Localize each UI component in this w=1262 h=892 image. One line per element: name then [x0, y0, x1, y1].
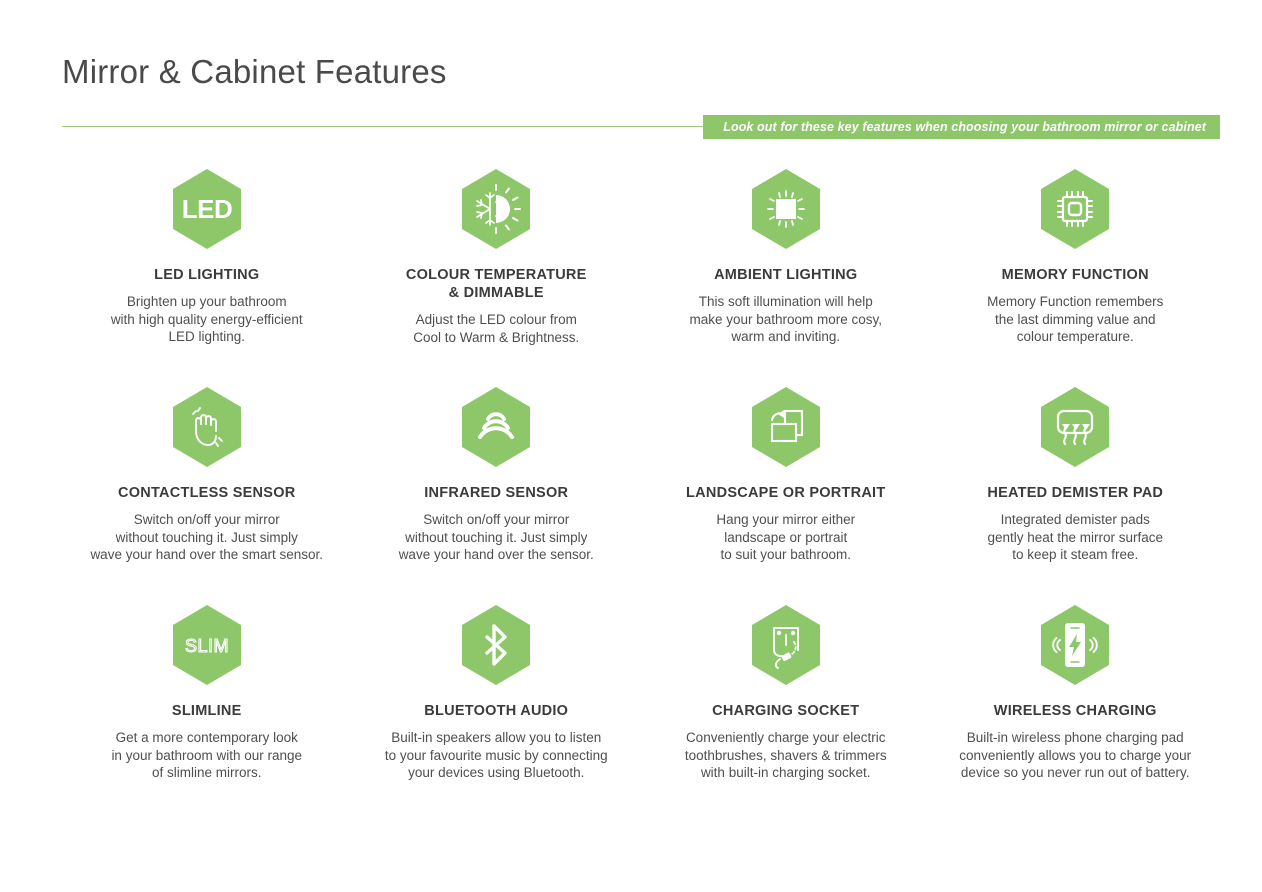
wireless-charging-phone-icon [1039, 604, 1111, 686]
snowflake-sun-icon [460, 168, 532, 250]
feature-card-heated-demister-pad: HEATED DEMISTER PAD Integrated demister … [931, 386, 1221, 604]
svg-text:LED: LED [182, 194, 233, 224]
feature-card-ambient-lighting: AMBIENT LIGHTING This soft illumination … [641, 168, 931, 386]
feature-title: HEATED DEMISTER PAD [987, 484, 1163, 502]
led-badge-icon: LED [171, 168, 243, 250]
feature-description: Brighten up your bathroom with high qual… [111, 293, 303, 346]
svg-text:SLIM: SLIM [185, 636, 229, 656]
feature-card-contactless-sensor: CONTACTLESS SENSOR Switch on/off your mi… [62, 386, 352, 604]
feature-title: AMBIENT LIGHTING [714, 266, 857, 284]
ambient-light-icon [750, 168, 822, 250]
feature-title: INFRARED SENSOR [424, 484, 568, 502]
feature-card-landscape-or-portrait: LANDSCAPE OR PORTRAIT Hang your mirror e… [641, 386, 931, 604]
feature-title: LED LIGHTING [154, 266, 259, 284]
microchip-icon [1039, 168, 1111, 250]
features-grid: LED LED LIGHTING Brighten up your bathro… [62, 168, 1220, 822]
feature-card-slimline: SLIM SLIMLINE Get a more contemporary lo… [62, 604, 352, 822]
page-header: Mirror & Cabinet Features [62, 52, 1220, 92]
bluetooth-icon [460, 604, 532, 686]
feature-title: WIRELESS CHARGING [994, 702, 1157, 720]
feature-title: BLUETOOTH AUDIO [424, 702, 568, 720]
page-title: Mirror & Cabinet Features [62, 52, 1220, 92]
feature-description: Built-in wireless phone charging pad con… [959, 729, 1191, 782]
header-divider-area: Look out for these key features when cho… [62, 126, 1220, 152]
feature-card-colour-temperature: COLOUR TEMPERATURE & DIMMABLE Adjust the… [352, 168, 642, 386]
feature-description: Conveniently charge your electric toothb… [685, 729, 887, 782]
feature-description: Memory Function remembers the last dimmi… [987, 293, 1163, 346]
feature-title: CONTACTLESS SENSOR [118, 484, 295, 502]
feature-title: LANDSCAPE OR PORTRAIT [686, 484, 885, 502]
feature-description: Switch on/off your mirror without touchi… [399, 511, 594, 564]
feature-card-infrared-sensor: INFRARED SENSOR Switch on/off your mirro… [352, 386, 642, 604]
feature-card-bluetooth-audio: BLUETOOTH AUDIO Built-in speakers allow … [352, 604, 642, 822]
feature-title: COLOUR TEMPERATURE & DIMMABLE [406, 266, 587, 302]
waving-hand-icon [171, 386, 243, 468]
feature-description: Integrated demister pads gently heat the… [987, 511, 1163, 564]
feature-description: This soft illumination will help make yo… [689, 293, 882, 346]
feature-card-wireless-charging: WIRELESS CHARGING Built-in wireless phon… [931, 604, 1221, 822]
power-socket-plug-icon [750, 604, 822, 686]
feature-description: Switch on/off your mirror without touchi… [90, 511, 323, 564]
feature-title: SLIMLINE [172, 702, 242, 720]
feature-description: Hang your mirror either landscape or por… [716, 511, 855, 564]
feature-description: Adjust the LED colour from Cool to Warm … [413, 311, 579, 346]
feature-card-led-lighting: LED LED LIGHTING Brighten up your bathro… [62, 168, 352, 386]
feature-title: CHARGING SOCKET [712, 702, 859, 720]
feature-card-memory-function: MEMORY FUNCTION Memory Function remember… [931, 168, 1221, 386]
slim-badge-icon: SLIM [171, 604, 243, 686]
key-features-banner: Look out for these key features when cho… [703, 115, 1220, 139]
signal-waves-icon [460, 386, 532, 468]
feature-card-charging-socket: CHARGING SOCKET Conveniently charge your… [641, 604, 931, 822]
demister-heat-icon [1039, 386, 1111, 468]
feature-title: MEMORY FUNCTION [1002, 266, 1149, 284]
feature-description: Get a more contemporary look in your bat… [111, 729, 302, 782]
feature-description: Built-in speakers allow you to listen to… [385, 729, 608, 782]
rotate-orientation-icon [750, 386, 822, 468]
